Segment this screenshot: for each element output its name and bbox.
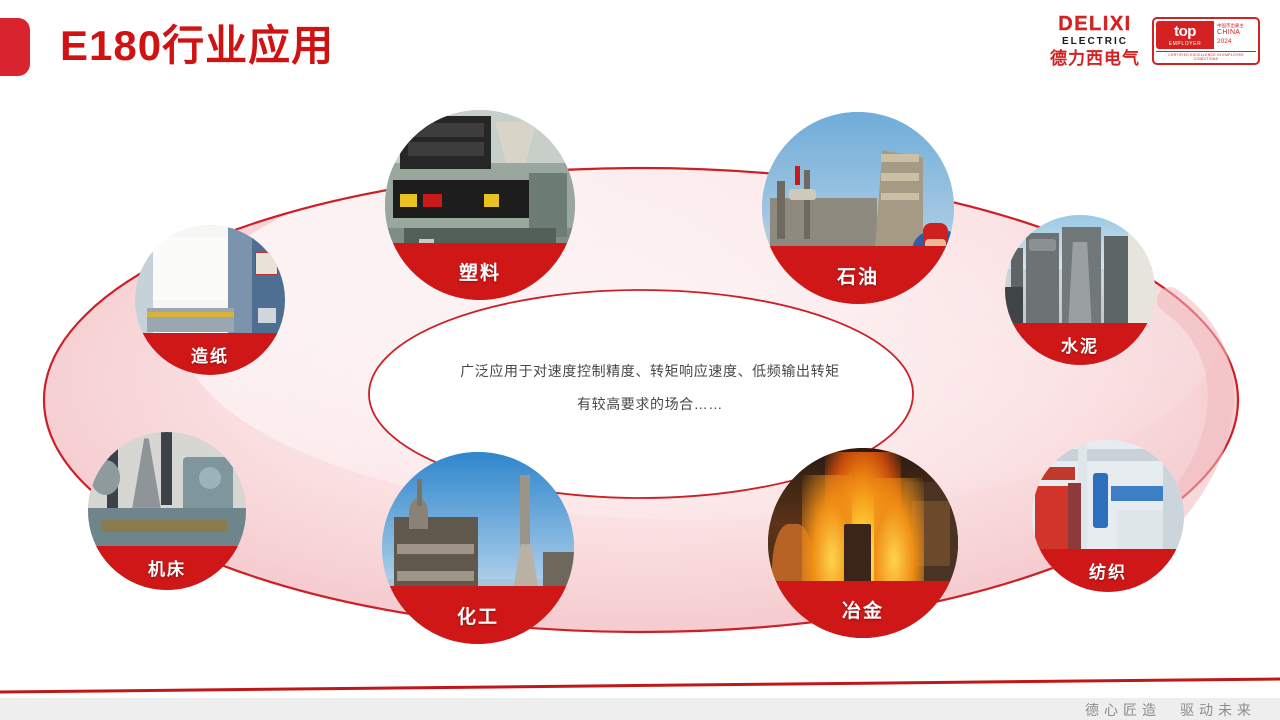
- industry-label: 纺织: [1032, 549, 1184, 592]
- delixi-logo: DELIXI ELECTRIC 德力西电气: [1050, 14, 1140, 67]
- badge-country: CHINA: [1217, 29, 1253, 38]
- center-caption-line1: 广泛应用于对速度控制精度、转矩响应速度、低频输出转矩: [390, 355, 910, 388]
- badge-footer-text: CERTIFIED EXCELLENCE IN EMPLOYEE CONDITI…: [1156, 51, 1256, 61]
- top-employer-badge: top EMPLOYER 中国杰出雇主 CHINA 2024 CERTIFIED…: [1152, 17, 1260, 65]
- footer-slogan: 德心匠造 驱动未来: [1085, 700, 1256, 720]
- page-title: E180行业应用: [60, 20, 334, 73]
- badge-top-word: top: [1174, 24, 1196, 39]
- badge-info: 中国杰出雇主 CHINA 2024: [1214, 21, 1256, 49]
- industry-label: 机床: [88, 546, 246, 590]
- footer-rule: [0, 674, 1280, 696]
- industry-label: 塑料: [385, 243, 575, 300]
- industry-node-metallurgy[interactable]: 冶金: [768, 448, 958, 638]
- badge-employer-word: EMPLOYER: [1169, 41, 1202, 47]
- industry-node-papermaking[interactable]: 造纸: [135, 225, 285, 375]
- industry-label: 水泥: [1005, 323, 1155, 365]
- badge-top-row: top EMPLOYER 中国杰出雇主 CHINA 2024: [1156, 21, 1256, 49]
- brand-block: DELIXI ELECTRIC 德力西电气 top EMPLOYER 中国杰出雇…: [1050, 14, 1260, 67]
- industry-label: 化工: [382, 586, 574, 644]
- slide-root: E180行业应用 DELIXI ELECTRIC 德力西电气 top EMPLO…: [0, 0, 1280, 720]
- brand-name: DELIXI: [1058, 14, 1131, 34]
- industry-node-cement[interactable]: 水泥: [1005, 215, 1155, 365]
- industry-label: 石油: [762, 246, 954, 304]
- brand-subtitle: ELECTRIC: [1062, 37, 1128, 47]
- industry-node-plastics[interactable]: 塑料: [385, 110, 575, 300]
- title-accent-tab: [0, 18, 30, 76]
- brand-name-cn: 德力西电气: [1050, 50, 1140, 67]
- industry-node-machine-tool[interactable]: 机床: [88, 432, 246, 590]
- center-caption: 广泛应用于对速度控制精度、转矩响应速度、低频输出转矩 有较高要求的场合……: [390, 355, 910, 421]
- badge-year: 2024: [1217, 38, 1253, 46]
- center-caption-line2: 有较高要求的场合……: [390, 388, 910, 421]
- industry-label: 造纸: [135, 333, 285, 375]
- industry-label: 冶金: [768, 581, 958, 638]
- industry-node-petroleum[interactable]: 石油: [762, 112, 954, 304]
- badge-top-mark: top EMPLOYER: [1156, 21, 1214, 49]
- industry-node-textile[interactable]: 纺织: [1032, 440, 1184, 592]
- industry-node-chemical[interactable]: 化工: [382, 452, 574, 644]
